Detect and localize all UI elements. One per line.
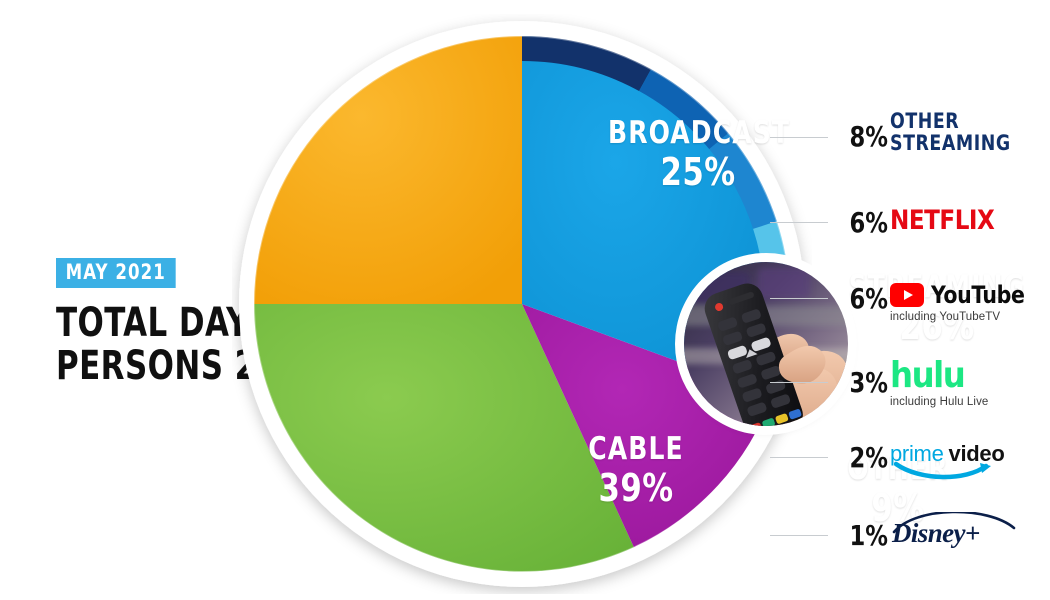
netflix-wordmark: NETFLIX <box>890 205 1042 236</box>
other-streaming-line2: STREAMING <box>890 132 1037 154</box>
leader-line-prime-video <box>770 457 828 458</box>
legend-pct-youtube: 6% <box>834 282 888 315</box>
hulu-sub-note: including Hulu Live <box>890 396 1050 408</box>
pie-chart: BROADCAST 25% STREAMING 26% OTHER 9% CAB… <box>232 14 812 594</box>
leader-line-hulu <box>770 382 828 383</box>
youtube-wordmark: YouTube <box>931 281 1025 309</box>
leader-line-netflix <box>770 222 828 223</box>
infographic-canvas: MAY 2021 TOTAL DAY PERSONS 2+ <box>0 0 1050 600</box>
amazon-smile-icon <box>894 461 998 481</box>
leader-line-disney-plus <box>770 535 828 536</box>
slice-broadcast[interactable] <box>254 36 522 304</box>
legend-brand-prime-video[interactable]: prime video <box>890 441 1050 467</box>
youtube-sub-note: including YouTubeTV <box>890 311 1050 323</box>
legend-pct-hulu: 3% <box>834 366 888 399</box>
legend-brand-other-streaming[interactable]: OTHER STREAMING <box>890 110 1050 155</box>
streaming-services-legend: 8% OTHER STREAMING 6% NETFLIX 6% YouTube… <box>770 0 1050 600</box>
legend-pct-prime-video: 2% <box>834 441 888 474</box>
leader-line-youtube <box>770 298 828 299</box>
legend-brand-hulu[interactable]: hulu including Hulu Live <box>890 358 1050 408</box>
legend-brand-youtube[interactable]: YouTube including YouTubeTV <box>890 281 1050 323</box>
page-title-line1: TOTAL DAY <box>56 300 249 346</box>
disney-plus-wordmark: Disney+ <box>892 518 980 549</box>
legend-pct-netflix: 6% <box>834 206 888 239</box>
legend-brand-disney-plus[interactable]: Disney+ <box>890 512 1050 546</box>
youtube-play-icon <box>890 283 924 307</box>
date-badge: MAY 2021 <box>56 258 176 288</box>
leader-line-other-streaming <box>770 137 828 138</box>
legend-pct-other-streaming: 8% <box>834 120 888 153</box>
legend-pct-disney-plus: 1% <box>834 519 888 552</box>
other-streaming-line1: OTHER <box>890 110 1037 132</box>
legend-brand-netflix[interactable]: NETFLIX <box>890 205 1050 236</box>
hulu-wordmark: hulu <box>890 358 1050 394</box>
